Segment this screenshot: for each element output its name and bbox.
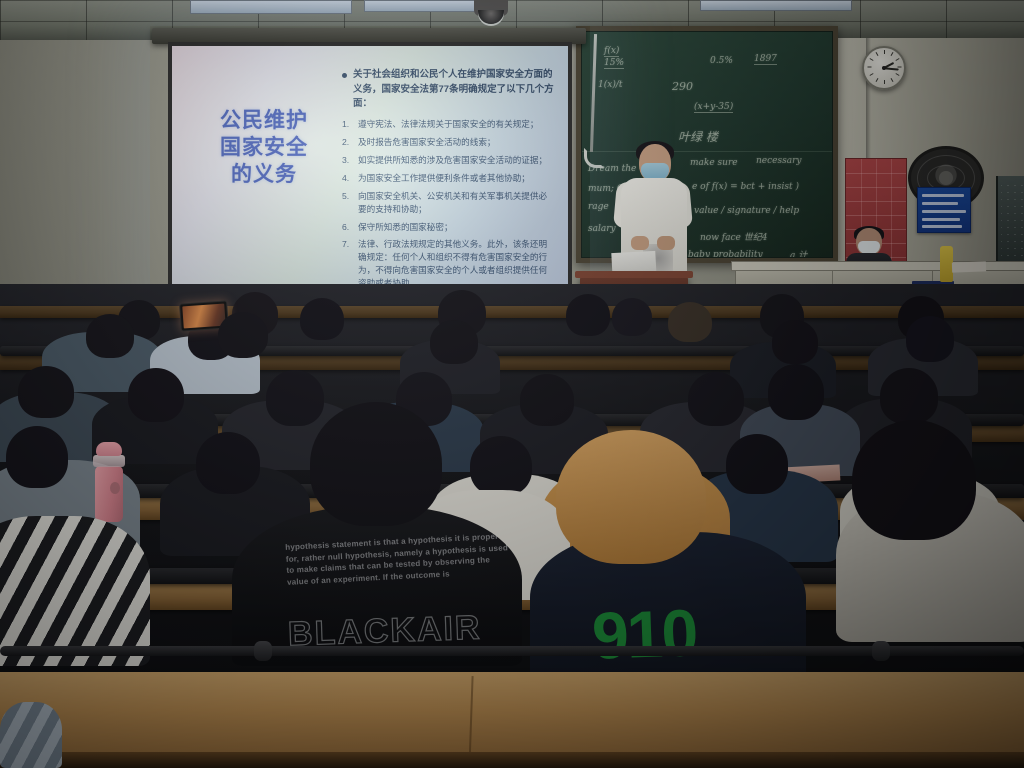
blackboard-text-4: 0.5%	[710, 56, 733, 66]
blackboard-text-16: salary	[588, 224, 616, 234]
student-head-cap	[768, 364, 824, 420]
wall-clock	[862, 46, 906, 90]
student-head-navy-vest	[556, 430, 706, 564]
slide-item-7: 7.法律、行政法规规定的其他义务。此外，该条还明确规定：任何个人和组织不得有危害…	[340, 238, 554, 290]
slide-item-text: 法律、行政法规规定的其他义务。此外，该条还明确规定：任何个人和组织不得有危害国家…	[358, 239, 547, 288]
blackboard-text-3: 1897	[754, 54, 777, 65]
slide-item-text: 如实提供所知悉的涉及危害国家安全活动的证据；	[358, 155, 547, 165]
blackboard-text-19: a 计	[790, 248, 807, 258]
slide-item-1: 1.遵守宪法、法律法规关于国家安全的有关规定；	[340, 118, 554, 131]
slide-title-line-1: 公民维护	[194, 108, 334, 135]
blackboard-text-8: 叶绿 楼	[678, 128, 718, 145]
slide-item-number: 7.	[342, 238, 349, 251]
slide-title-line-3: 的义务	[194, 162, 334, 189]
slide-main-bullet: 关于社会组织和公民个人在维护国家安全方面的义务，国家安全法第77条明确规定了以下…	[340, 68, 554, 112]
slide-item-number: 3.	[342, 154, 349, 167]
presentation-slide: 公民维护国家安全的义务 关于社会组织和公民个人在维护国家安全方面的义务，国家安全…	[172, 46, 568, 290]
clock-center-pin	[882, 66, 886, 70]
student-head	[612, 298, 652, 336]
ceiling-light-right	[700, 0, 852, 11]
blackboard-text-10: make sure	[690, 158, 738, 168]
slide-item-number: 5.	[342, 190, 349, 203]
slide-item-2: 2.及时报告危害国家安全活动的线索；	[340, 136, 554, 149]
slide-title: 公民维护国家安全的义务	[194, 108, 334, 189]
foreground-bag	[0, 702, 62, 768]
student-head	[6, 426, 68, 488]
slide-item-5: 5.向国家安全机关、公安机关和有关军事机关提供必要的支持和协助；	[340, 190, 554, 216]
slide-item-number: 1.	[342, 118, 349, 131]
student-head	[470, 436, 532, 496]
blackboard-text-17: now face 世纪4	[700, 230, 767, 243]
desk-front-edge	[0, 752, 1024, 768]
blackboard-text-7: (x+y-35)	[694, 102, 733, 113]
student-head	[566, 294, 610, 336]
slide-item-list: 1.遵守宪法、法律法规关于国家安全的有关规定；2.及时报告危害国家安全活动的线索…	[340, 118, 554, 290]
student-head	[128, 368, 184, 422]
slide-item-number: 2.	[342, 136, 349, 149]
student-head	[196, 432, 260, 494]
blackboard: f(x)15%18970.5%1(x)/t290(x+y-35)叶绿 楼Drea…	[576, 26, 838, 263]
student-head	[86, 314, 134, 358]
student-head	[906, 316, 954, 362]
student-head-phone-holder	[218, 312, 268, 358]
foreground-seat-rail	[0, 646, 1024, 656]
student-head	[688, 372, 744, 426]
classroom-scene: f(x)15%18970.5%1(x)/t290(x+y-35)叶绿 楼Drea…	[0, 0, 1024, 768]
blackboard-text-5: 1(x)/t	[598, 80, 622, 90]
vest-number-text: 910	[591, 594, 698, 674]
student-head	[772, 320, 818, 364]
projection-screen: 公民维护国家安全的义务 关于社会组织和公民个人在维护国家安全方面的义务，国家安全…	[168, 42, 572, 294]
desk-papers	[952, 261, 986, 272]
blackboard-text-1: f(x)	[604, 46, 619, 57]
slide-item-4: 4.为国家安全工作提供便利条件或者其他协助；	[340, 172, 554, 185]
slide-item-text: 及时报告危害国家安全活动的线索；	[358, 137, 496, 147]
blackboard-text-14: rage	[588, 202, 609, 212]
student-head	[520, 374, 574, 426]
blackboard-text-6: 290	[672, 80, 693, 93]
window	[996, 176, 1024, 272]
student-head	[430, 320, 478, 364]
slide-title-line-2: 国家安全	[194, 135, 334, 162]
slide-item-text: 保守所知悉的国家秘密；	[358, 222, 453, 232]
student-body-striped	[0, 516, 150, 666]
slide-item-number: 6.	[342, 221, 349, 234]
blackboard-text-2: 15%	[604, 58, 624, 69]
blackboard-text-15: value / signature / help	[694, 206, 799, 216]
student-head-black-jacket	[310, 402, 442, 526]
blackboard-text-13: e of f(x) = bct + insist )	[692, 182, 799, 192]
blackboard-text-18: baby probability	[688, 250, 763, 258]
ceiling-light-left	[190, 0, 352, 14]
blackboard-text-11: necessary	[756, 156, 801, 166]
student-head-white-sweater	[852, 420, 976, 540]
student-head	[668, 302, 712, 342]
slide-item-text: 遵守宪法、法律法规关于国家安全的有关规定；	[358, 119, 538, 129]
student-head	[300, 298, 344, 340]
student-head	[880, 368, 938, 424]
slide-item-6: 6.保守所知悉的国家秘密；	[340, 221, 554, 234]
water-bottle	[92, 442, 126, 522]
slide-body: 关于社会组织和公民个人在维护国家安全方面的义务，国家安全法第77条明确规定了以下…	[340, 68, 554, 290]
student-head	[266, 370, 324, 426]
safety-notice-sign	[917, 187, 971, 233]
slide-item-number: 4.	[342, 172, 349, 185]
dome-camera-icon	[474, 0, 508, 16]
student-head	[18, 366, 74, 418]
slide-item-text: 向国家安全机关、公安机关和有关军事机关提供必要的支持和协助；	[358, 191, 547, 214]
slide-item-text: 为国家安全工作提供便利条件或者其他协助；	[358, 173, 530, 183]
student-head	[726, 434, 788, 494]
slide-item-3: 3.如实提供所知悉的涉及危害国家安全活动的证据；	[340, 154, 554, 167]
